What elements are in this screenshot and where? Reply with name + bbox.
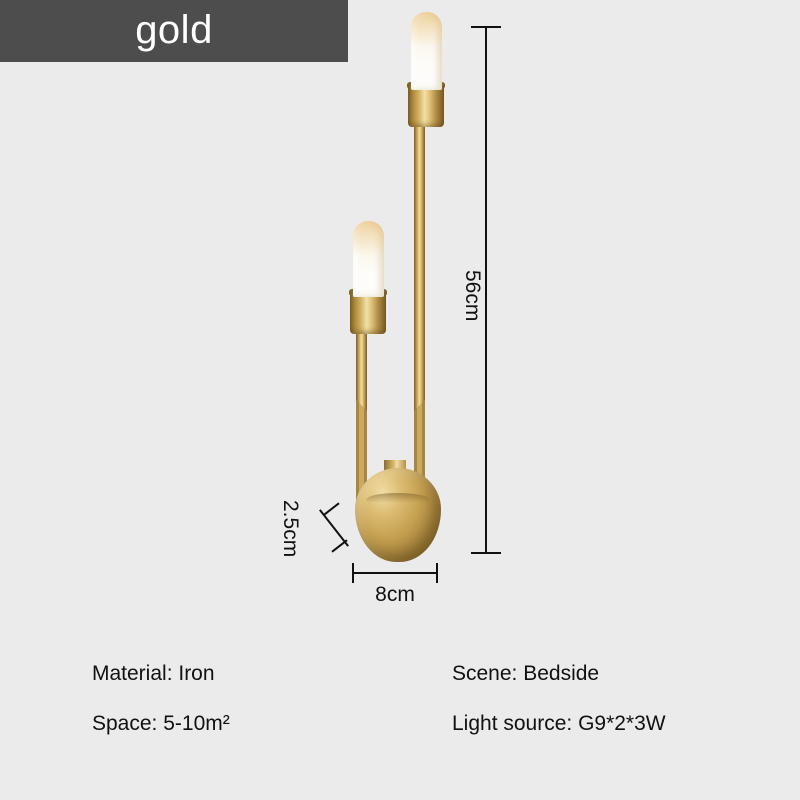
lamp-top-bulb-glow bbox=[411, 12, 442, 46]
spec-scene: Scene: Bedside bbox=[452, 662, 599, 686]
spec-light-source: Light source: G9*2*3W bbox=[452, 712, 666, 736]
height-dimension-tick-top bbox=[471, 26, 501, 28]
height-dimension-label: 56cm bbox=[460, 270, 484, 321]
color-variant-banner: gold bbox=[0, 0, 348, 62]
lamp-mount-seam bbox=[366, 493, 430, 507]
height-dimension-tick-bottom bbox=[471, 552, 501, 554]
lamp-bottom-socket bbox=[350, 292, 386, 334]
width-dimension-line bbox=[352, 572, 438, 574]
lamp-bottom-bulb-glow bbox=[353, 221, 384, 255]
width-dimension-tick-left bbox=[352, 563, 354, 583]
depth-dimension-label: 2.5cm bbox=[278, 500, 302, 557]
product-image-stage: gold 56cm 8cm 2.5cm Material: Iron Space… bbox=[0, 0, 800, 800]
height-dimension-line bbox=[485, 26, 487, 554]
specification-list: Material: Iron Space: 5-10m² Scene: Beds… bbox=[0, 650, 800, 760]
wall-sconce-lamp-icon bbox=[330, 0, 470, 580]
lamp-wall-mount-sphere bbox=[355, 468, 441, 562]
width-dimension-tick-right bbox=[436, 563, 438, 583]
lamp-top-socket bbox=[408, 85, 444, 127]
width-dimension-label: 8cm bbox=[352, 583, 438, 607]
color-variant-label: gold bbox=[135, 10, 213, 50]
spec-space: Space: 5-10m² bbox=[92, 712, 230, 736]
spec-material: Material: Iron bbox=[92, 662, 215, 686]
